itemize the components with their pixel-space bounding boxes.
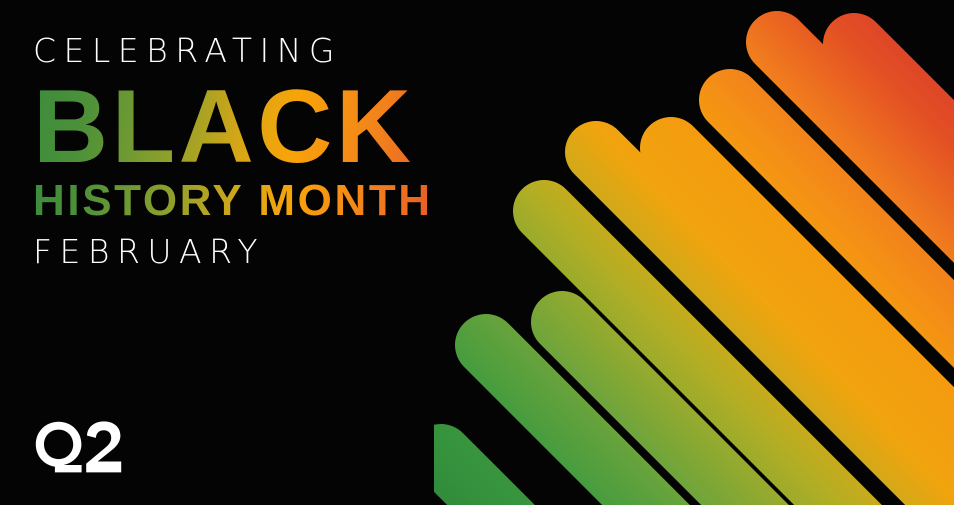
subtitle-history-month: HISTORY MONTH (33, 179, 553, 223)
logo-q-glyph (36, 422, 82, 473)
q2-logo: Q2 (35, 421, 135, 473)
black-history-month-banner: CELEBRATING BLACK HISTORY MONTH FEBRUARY… (0, 0, 954, 505)
headline-block: CELEBRATING BLACK HISTORY MONTH FEBRUARY (33, 34, 553, 268)
logo-text: Q2 (35, 421, 56, 425)
logo-2-glyph (86, 421, 121, 472)
page-title-black: BLACK (33, 80, 553, 176)
eyebrow-celebrating: CELEBRATING (33, 34, 553, 67)
month-february: FEBRUARY (33, 235, 553, 268)
